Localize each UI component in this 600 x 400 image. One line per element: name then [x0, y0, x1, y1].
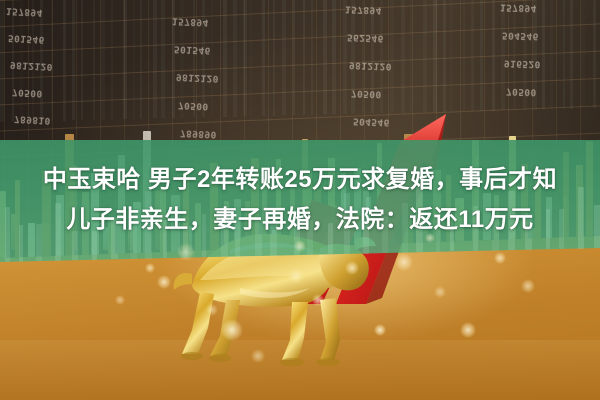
bokeh-dot — [494, 252, 506, 264]
band-stripe — [492, 0, 495, 122]
band-stripe — [93, 0, 95, 122]
headline-text: 中玉束哈 男子2年转账25万元求复婚，事后才知 儿子非亲生，妻子再婚，法院：返还… — [0, 160, 600, 240]
band-stripe — [282, 0, 286, 122]
headline-line-2: 儿子非亲生，妻子再婚，法院：返还11万元 — [0, 200, 600, 240]
band-stripe — [172, 0, 175, 122]
bokeh-dot — [460, 322, 476, 338]
band-stripe — [243, 0, 247, 122]
bokeh-dot — [294, 240, 306, 252]
band-stripe — [233, 0, 237, 122]
band-stripe — [523, 0, 527, 122]
news-banner-image: 1578945015469812120705007898101578945015… — [0, 0, 600, 400]
band-stripe — [443, 0, 446, 122]
band-stripe — [390, 0, 394, 122]
band-stripe — [202, 0, 205, 122]
price-label: 501546 — [174, 43, 211, 56]
band-stripe — [593, 0, 596, 122]
price-label: 70500 — [506, 86, 537, 98]
price-label: 157894 — [6, 5, 43, 18]
band-stripe — [581, 0, 585, 122]
band-stripe — [323, 0, 327, 122]
band-stripe — [153, 0, 157, 122]
band-stripe — [501, 0, 505, 122]
band-stripe — [273, 0, 275, 122]
price-label: 9812120 — [10, 59, 53, 72]
bokeh-dot — [206, 304, 218, 316]
band-stripe — [463, 0, 465, 122]
bokeh-dot — [157, 275, 171, 289]
band-stripe — [380, 0, 383, 122]
bokeh-dot — [221, 319, 243, 341]
band-stripe — [223, 0, 227, 122]
headline-line-1: 中玉束哈 男子2年转账25万元求复婚，事后才知 — [0, 160, 600, 200]
band-stripe — [161, 0, 165, 122]
band-stripe — [410, 0, 412, 122]
band-stripe — [293, 0, 295, 122]
price-label: 70500 — [351, 87, 382, 99]
band-stripe — [542, 0, 545, 122]
bokeh-dot — [288, 268, 304, 284]
price-label: 157894 — [500, 1, 537, 13]
band-stripe — [401, 0, 405, 122]
band-stripe — [123, 0, 127, 122]
band-stripe — [433, 0, 437, 122]
band-stripe — [12, 0, 14, 122]
band-stripe — [513, 0, 516, 122]
band-stripe — [0, 0, 4, 122]
band-stripe — [72, 0, 75, 122]
price-label: 9812120 — [349, 59, 392, 71]
band-stripe — [550, 0, 553, 122]
band-stripe — [362, 0, 364, 122]
band-stripe — [81, 0, 83, 122]
band-stripe — [133, 0, 135, 122]
band-stripe — [343, 0, 347, 122]
band-stripe — [101, 0, 105, 122]
bokeh-dot — [521, 279, 535, 293]
bokeh-dot — [434, 286, 446, 298]
band-stripe — [51, 0, 53, 122]
band-stripe — [371, 0, 374, 122]
band-stripe — [471, 0, 474, 122]
band-stripe — [423, 0, 427, 122]
bokeh-dot — [312, 294, 324, 306]
band-stripe — [303, 0, 305, 122]
bokeh-dot — [374, 324, 386, 336]
band-stripe — [311, 0, 313, 122]
band-stripe — [533, 0, 537, 122]
bokeh-dot — [177, 243, 195, 261]
bokeh-dot — [251, 349, 265, 363]
bokeh-dot — [345, 261, 359, 275]
band-stripe — [450, 0, 453, 122]
band-stripe — [563, 0, 565, 122]
band-stripe — [250, 0, 252, 122]
bokeh-dot — [115, 295, 125, 305]
price-label: 70500 — [12, 86, 43, 99]
band-stripe — [351, 0, 355, 122]
band-stripe — [480, 0, 483, 122]
band-stripe — [332, 0, 336, 122]
band-stripe — [211, 0, 213, 122]
band-stripe — [570, 0, 573, 122]
band-stripe — [180, 0, 184, 122]
band-stripe — [193, 0, 195, 122]
band-stripe — [111, 0, 113, 122]
price-label: 789890 — [180, 127, 217, 140]
band-stripe — [63, 0, 66, 122]
band-stripe — [262, 0, 265, 122]
bokeh-dot — [145, 263, 155, 273]
band-stripe — [140, 0, 142, 122]
band-stripe — [32, 0, 34, 122]
band-stripe — [40, 0, 43, 122]
bokeh-dot — [395, 253, 413, 271]
band-stripe — [20, 0, 23, 122]
